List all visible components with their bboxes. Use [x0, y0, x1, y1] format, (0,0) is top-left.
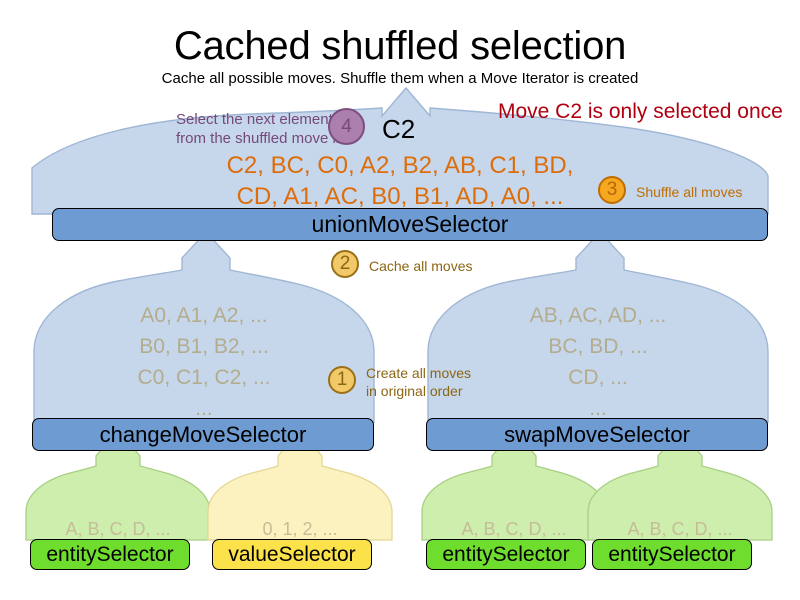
union-move-selector-bar[interactable]: unionMoveSelector — [52, 208, 768, 241]
value-selector-bar[interactable]: valueSelector — [212, 539, 372, 570]
step-badge-3: 3 — [598, 176, 626, 204]
step-badge-2: 2 — [331, 250, 359, 278]
swap-cloud-shape — [428, 232, 768, 422]
change-cloud-shape — [34, 232, 374, 422]
page-title: Cached shuffled selection — [0, 24, 800, 69]
step-badge-1: 1 — [328, 366, 356, 394]
change-move-selector-bar[interactable]: changeMoveSelector — [32, 418, 374, 451]
entity-selector-bar-2[interactable]: entitySelector — [426, 539, 586, 570]
step-badge-4: 4 — [328, 108, 365, 145]
create-all-moves-annotation: Create all moves in original order — [366, 364, 471, 400]
create-all-moves-annotation-line2: in original order — [366, 382, 471, 400]
entity-selector-bar-1[interactable]: entitySelector — [30, 539, 190, 570]
shape-layer — [0, 0, 800, 600]
diagram-canvas: Cached shuffled selection Cache all poss… — [0, 0, 800, 600]
page-subtitle: Cache all possible moves. Shuffle them w… — [0, 70, 800, 87]
create-all-moves-annotation-line1: Create all moves — [366, 364, 471, 382]
select-next-annotation-line1: Select the next element — [176, 110, 322, 129]
entity-selector-bar-3[interactable]: entitySelector — [592, 539, 752, 570]
swap-move-selector-bar[interactable]: swapMoveSelector — [426, 418, 768, 451]
selected-move-label: C2 — [382, 114, 415, 145]
cache-all-moves-annotation: Cache all moves — [369, 257, 473, 275]
shuffle-all-moves-annotation: Shuffle all moves — [636, 183, 742, 201]
select-next-annotation-line2: from the shuffled move list — [176, 129, 322, 148]
select-next-annotation: Select the next element from the shuffle… — [176, 110, 322, 148]
only-selected-once-annotation: Move C2 is only selected once — [498, 100, 783, 124]
